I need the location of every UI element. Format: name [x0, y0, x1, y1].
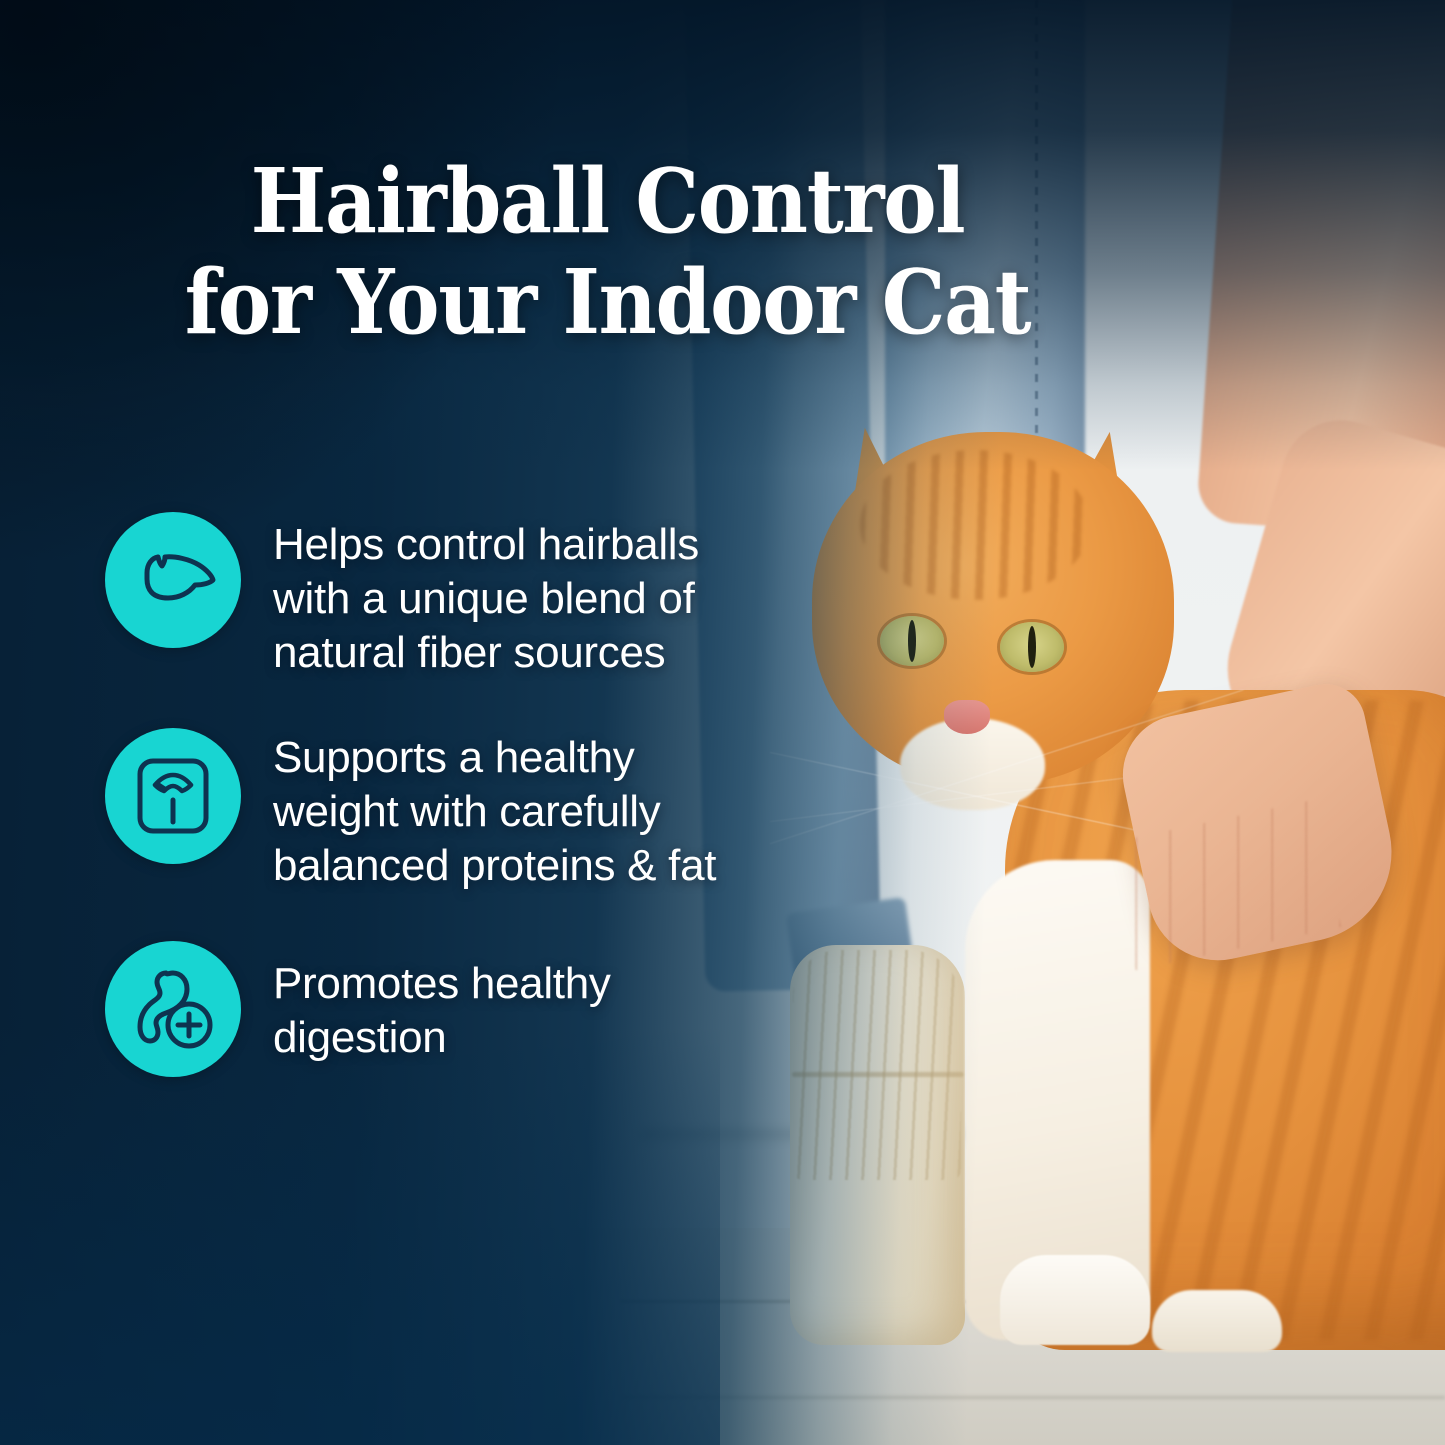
headline-line-2: for Your Indoor Cat [61, 251, 1155, 352]
stomach-plus-icon-badge [105, 941, 241, 1077]
stomach-plus-icon [130, 967, 216, 1051]
weight-scale-icon-badge [105, 728, 241, 864]
content-layer: Hairball Control for Your Indoor Cat Hel… [0, 0, 1445, 1445]
feature-list: Helps control hairballs with a unique bl… [105, 512, 805, 1077]
feature-text-hairball-control: Helps control hairballs with a unique bl… [273, 512, 743, 680]
weight-scale-icon [135, 756, 211, 836]
feature-item-healthy-digestion: Promotes healthy digestion [105, 941, 805, 1077]
feature-item-healthy-weight: Supports a healthy weight with carefully… [105, 728, 805, 893]
page-title: Hairball Control for Your Indoor Cat [61, 150, 1155, 352]
hairball-icon-badge [105, 512, 241, 648]
feature-text-healthy-weight: Supports a healthy weight with carefully… [273, 728, 743, 893]
feature-item-hairball-control: Helps control hairballs with a unique bl… [105, 512, 805, 680]
product-feature-banner: Hairball Control for Your Indoor Cat Hel… [0, 0, 1445, 1445]
hairball-icon [130, 545, 216, 615]
headline-line-1: Hairball Control [251, 148, 965, 253]
feature-text-healthy-digestion: Promotes healthy digestion [273, 941, 743, 1065]
